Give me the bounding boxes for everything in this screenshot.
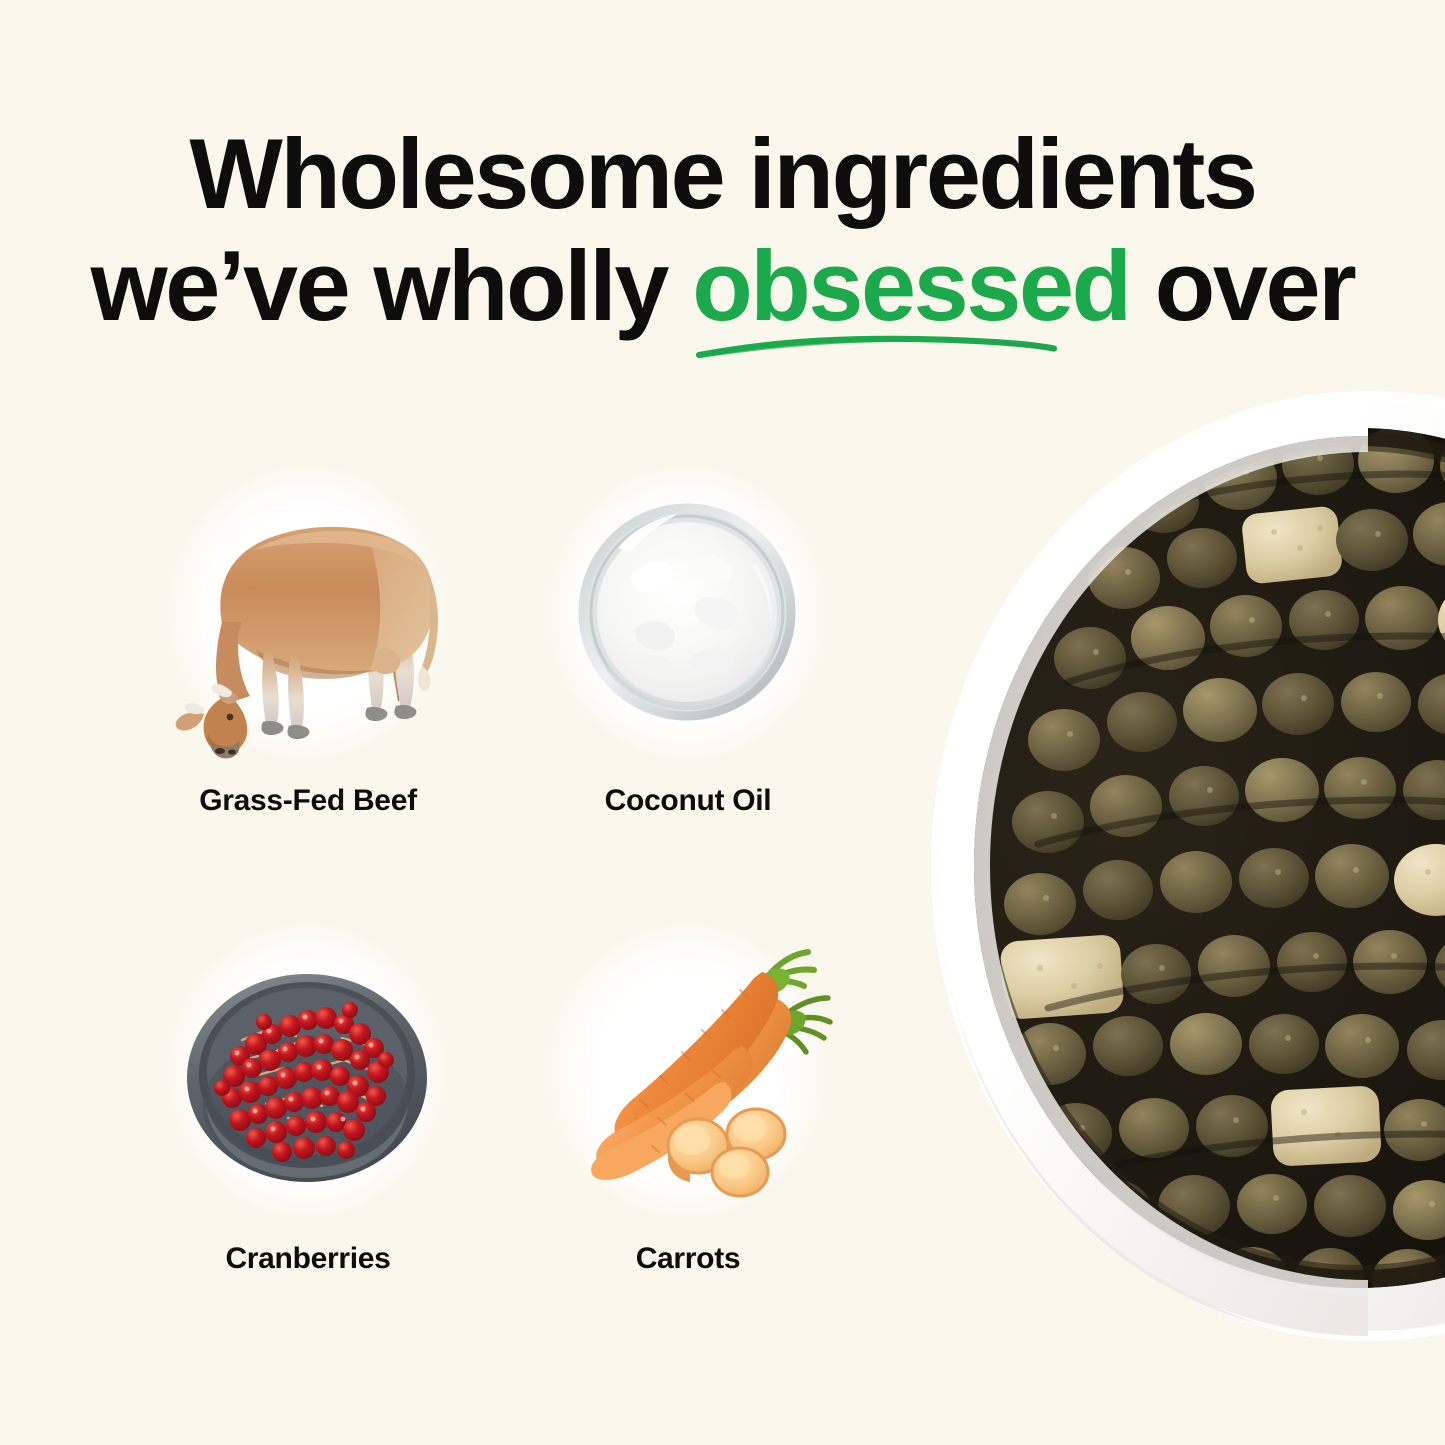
page-title: Wholesome ingredients we’ve wholly obses… bbox=[0, 118, 1445, 342]
white-bowl-of-dog-food-kibble-photo-icon bbox=[928, 382, 1445, 1342]
ingredient-card-carrots: Carrots bbox=[498, 910, 878, 1345]
bowl-of-red-cranberries-photo-icon bbox=[146, 910, 468, 1232]
headline-line-2: we’ve wholly obsessed over bbox=[0, 230, 1445, 342]
headline-line-2-after: over bbox=[1130, 230, 1355, 341]
ingredient-card-cranberries: Cranberries bbox=[118, 910, 498, 1345]
whole-and-sliced-carrots-photo-icon bbox=[526, 910, 848, 1232]
ingredient-label: Grass-Fed Beef bbox=[118, 784, 498, 818]
headline-line-1: Wholesome ingredients bbox=[0, 118, 1445, 230]
ingredient-label: Coconut Oil bbox=[498, 784, 878, 818]
ingredient-label: Cranberries bbox=[118, 1242, 498, 1276]
headline-line-2-before: we’ve wholly bbox=[91, 230, 693, 341]
ingredient-card-coconut-oil: Coconut Oil bbox=[498, 452, 878, 887]
bowl-drop-shadow bbox=[800, 330, 1445, 1390]
ingredient-photo-wrapper bbox=[526, 452, 848, 774]
ingredient-label: Carrots bbox=[498, 1242, 878, 1276]
headline-highlight-word: obsessed bbox=[692, 230, 1130, 341]
ingredient-photo-wrapper bbox=[146, 910, 468, 1232]
glass-jar-of-coconut-oil-photo-icon bbox=[526, 452, 848, 774]
ingredient-card-grass-fed-beef: Grass-Fed Beef bbox=[118, 452, 498, 887]
ingredients-grid: Grass-Fed Beef bbox=[118, 452, 878, 1322]
ingredient-photo-wrapper bbox=[526, 910, 848, 1232]
ingredients-promo-graphic: Wholesome ingredients we’ve wholly obses… bbox=[0, 0, 1445, 1445]
ingredient-photo-wrapper bbox=[146, 452, 468, 774]
grazing-brown-cow-photo-icon bbox=[146, 452, 468, 774]
